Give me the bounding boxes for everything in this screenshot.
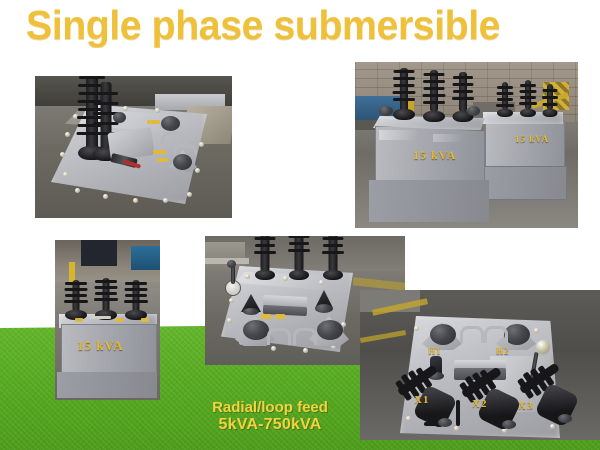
caption-line-2: 5kVA-750kVA	[150, 416, 390, 433]
terminal-label-h1: H1	[428, 346, 442, 356]
photo-top-right: 15 kVA	[355, 62, 578, 228]
photo-top-left	[35, 76, 232, 218]
terminal-label-x2: X2	[472, 398, 487, 410]
photo-bottom-right: H1 H2	[360, 290, 600, 440]
terminal-label-x1: X1	[414, 394, 429, 406]
photo-bottom-left: 15 kVA	[55, 240, 160, 400]
terminal-label-h2: H2	[496, 346, 510, 356]
page-title: Single phase submersible	[26, 2, 500, 49]
kva-label: 15 kVA	[77, 338, 124, 354]
terminal-label-x3: X3	[518, 400, 533, 412]
caption-block: Radial/loop feed 5kVA-750kVA	[150, 400, 390, 433]
slide-canvas: Single phase submersible	[0, 0, 600, 450]
caption-line-1: Radial/loop feed	[150, 400, 390, 416]
kva-label-front: 15 kVA	[413, 148, 456, 163]
kva-label-back: 15 kVA	[515, 134, 549, 144]
